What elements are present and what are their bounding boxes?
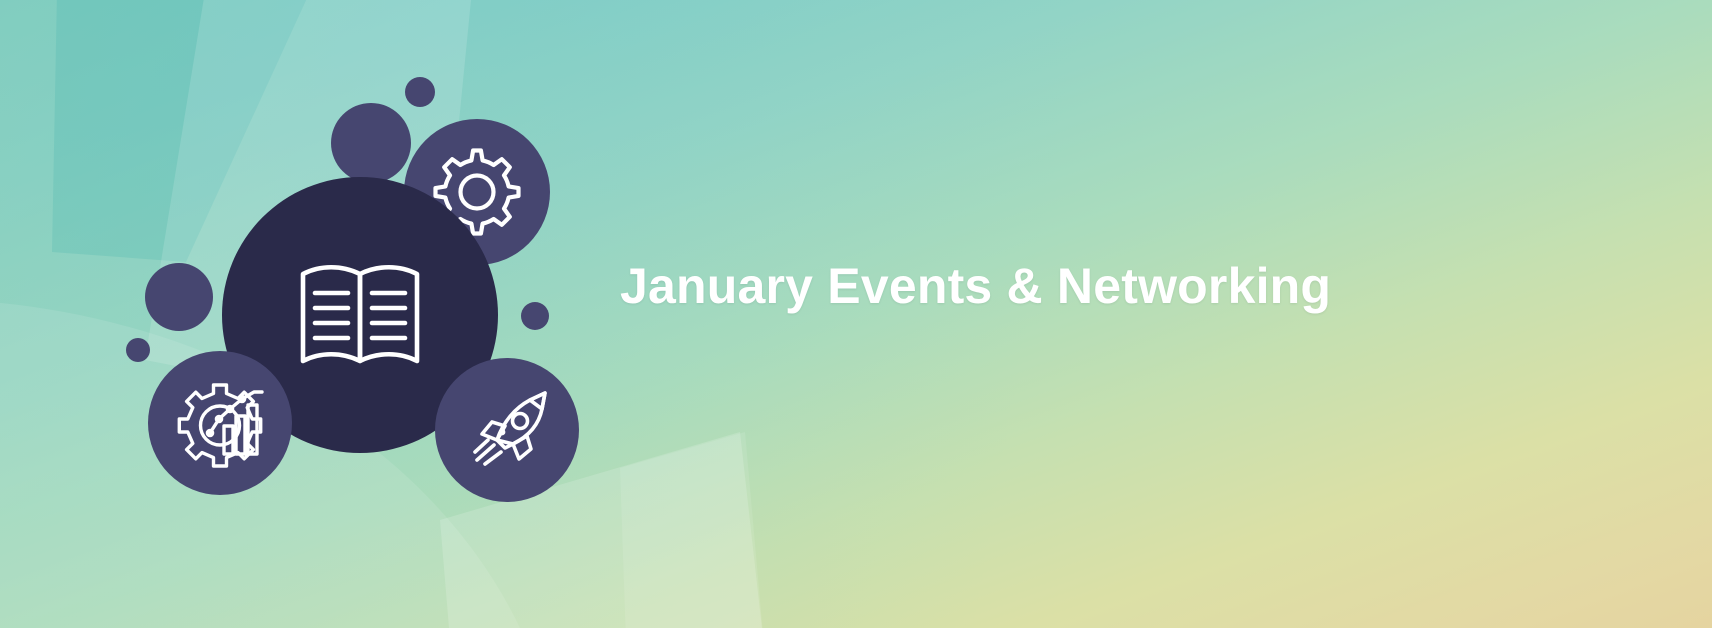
dot-small-top <box>405 77 435 107</box>
analytics-circle <box>148 351 292 495</box>
rocket-circle <box>435 358 579 502</box>
page-title: January Events & Networking <box>620 255 1520 317</box>
dot-large-upper <box>331 103 411 183</box>
icon-cluster <box>110 60 610 520</box>
dot-medium-left <box>145 263 213 331</box>
dot-small-right <box>521 302 549 330</box>
dot-tiny-left <box>126 338 150 362</box>
rocket-circle-bg <box>435 358 579 502</box>
event-banner: January Events & Networking <box>0 0 1712 628</box>
